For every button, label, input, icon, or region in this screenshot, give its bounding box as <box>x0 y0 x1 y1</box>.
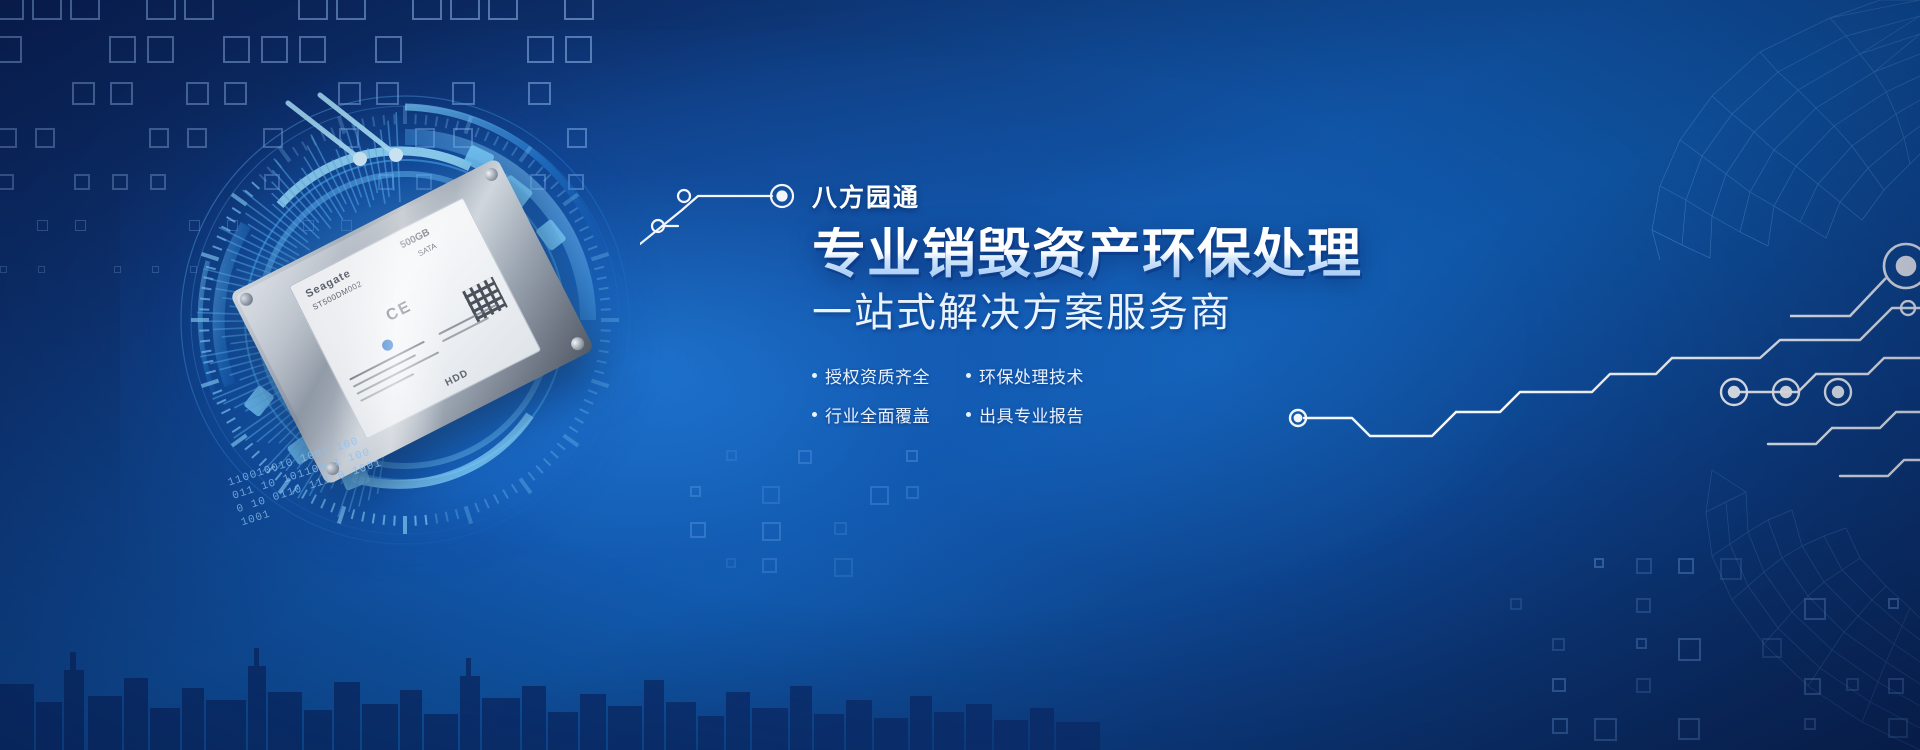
vignette-overlay <box>0 0 1920 750</box>
hero-banner: Seagate ST500DM002 500GB SATA CE HDD <box>0 0 1920 750</box>
